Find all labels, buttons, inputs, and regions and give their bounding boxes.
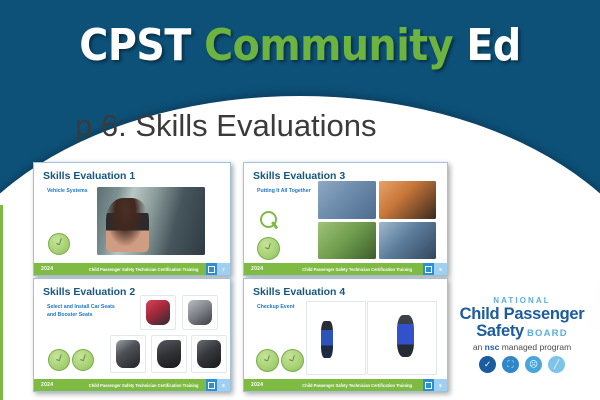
- footer-year: 2024: [251, 266, 263, 272]
- slide-canvas: CPST Community Ed p 6: Skills Evaluation…: [0, 0, 600, 400]
- logo-tagline-post: managed program: [499, 342, 571, 352]
- logo-tagline-pre: an: [473, 342, 485, 352]
- green-accent-rule: [0, 205, 3, 400]
- footer-year: 2024: [251, 382, 263, 388]
- logo-safety-text: Safety: [476, 322, 524, 340]
- footer-course-title: Child Passenger Safety Technician Certif…: [67, 267, 220, 272]
- footer-course-title: Child Passenger Safety Technician Certif…: [67, 383, 220, 388]
- logo-safety-board-line: SafetyBOARD: [452, 323, 592, 340]
- slide-thumbnail-2[interactable]: Skills Evaluation 2 Select and Install C…: [33, 278, 231, 392]
- car-seat-image: [140, 295, 176, 330]
- clock-icon: [48, 349, 70, 371]
- slide-2-footer: 2024 Child Passenger Safety Technician C…: [34, 379, 230, 391]
- logo-tagline: an nsc managed program: [452, 342, 592, 352]
- car-seat-image: [191, 335, 227, 373]
- clock-icon: [281, 349, 304, 372]
- page-title: p 6: Skills Evaluations: [75, 108, 377, 144]
- logo-nsc-brand: nsc: [485, 342, 500, 352]
- clock-icon: [257, 237, 280, 260]
- slide-thumbnail-1[interactable]: Skills Evaluation 1 Vehicle Systems 2024…: [33, 162, 231, 276]
- car-seat-image: [151, 335, 187, 373]
- banner-title: CPST Community Ed: [0, 20, 600, 71]
- slide-2-heading: Skills Evaluation 2: [43, 286, 135, 298]
- slide-4-footer: 2024 Child Passenger Safety Technician C…: [244, 379, 447, 391]
- logo-icon-row: ✓ ⛶ ☹ ╱: [452, 356, 592, 373]
- slide-4-photo-right: [367, 301, 437, 375]
- logo-child-passenger-text: Child Passenger: [452, 306, 592, 323]
- ncpsb-logo: NATIONAL Child Passenger SafetyBOARD an …: [452, 296, 592, 373]
- grid-photo: [379, 181, 437, 219]
- logo-board-text: BOARD: [527, 328, 568, 339]
- clock-icon: [48, 233, 70, 255]
- slide-1-heading: Skills Evaluation 1: [43, 170, 135, 182]
- clock-icon: [256, 349, 279, 372]
- banner-title-ed: Ed: [466, 20, 520, 71]
- car-seat-check-icon: ✓: [479, 356, 496, 373]
- seatbelt-icon: ╱: [548, 356, 565, 373]
- grid-photo: [318, 222, 376, 260]
- slide-4-photo-left: [306, 301, 366, 375]
- slide-1-footer: 2024 Child Passenger Safety Technician C…: [34, 263, 230, 275]
- footer-year: 2024: [41, 382, 53, 388]
- child-restraint-icon: ☹: [525, 356, 542, 373]
- slide-thumbnail-4[interactable]: Skills Evaluation 4 Checkup Event 2024 C…: [243, 278, 448, 392]
- footer-course-title: Child Passenger Safety Technician Certif…: [277, 267, 437, 272]
- logo-national-text: NATIONAL: [452, 296, 592, 305]
- slide-thumbnail-3[interactable]: Skills Evaluation 3 Putting It All Toget…: [243, 162, 448, 276]
- magnifier-icon: [260, 211, 282, 233]
- banner-title-community: Community: [204, 20, 453, 71]
- header-banner: CPST Community Ed: [0, 0, 600, 100]
- slide-4-heading: Skills Evaluation 4: [253, 286, 345, 298]
- slide-3-footer: 2024 Child Passenger Safety Technician C…: [244, 263, 447, 275]
- banner-title-cpst: CPST: [79, 20, 191, 71]
- car-seat-image: [182, 295, 218, 330]
- grid-photo: [318, 181, 376, 219]
- footer-course-title: Child Passenger Safety Technician Certif…: [277, 383, 437, 388]
- slide-1-photo: [97, 187, 205, 255]
- slide-3-subtitle: Putting It All Together: [257, 187, 327, 195]
- slide-3-image-grid: [318, 181, 436, 259]
- car-seat-image: [110, 335, 146, 373]
- footer-year: 2024: [41, 266, 53, 272]
- clock-icon: [72, 349, 94, 371]
- booster-seat-icon: ⛶: [502, 356, 519, 373]
- grid-photo: [379, 222, 437, 260]
- slide-2-subtitle: Select and Install Car Seats and Booster…: [47, 303, 117, 319]
